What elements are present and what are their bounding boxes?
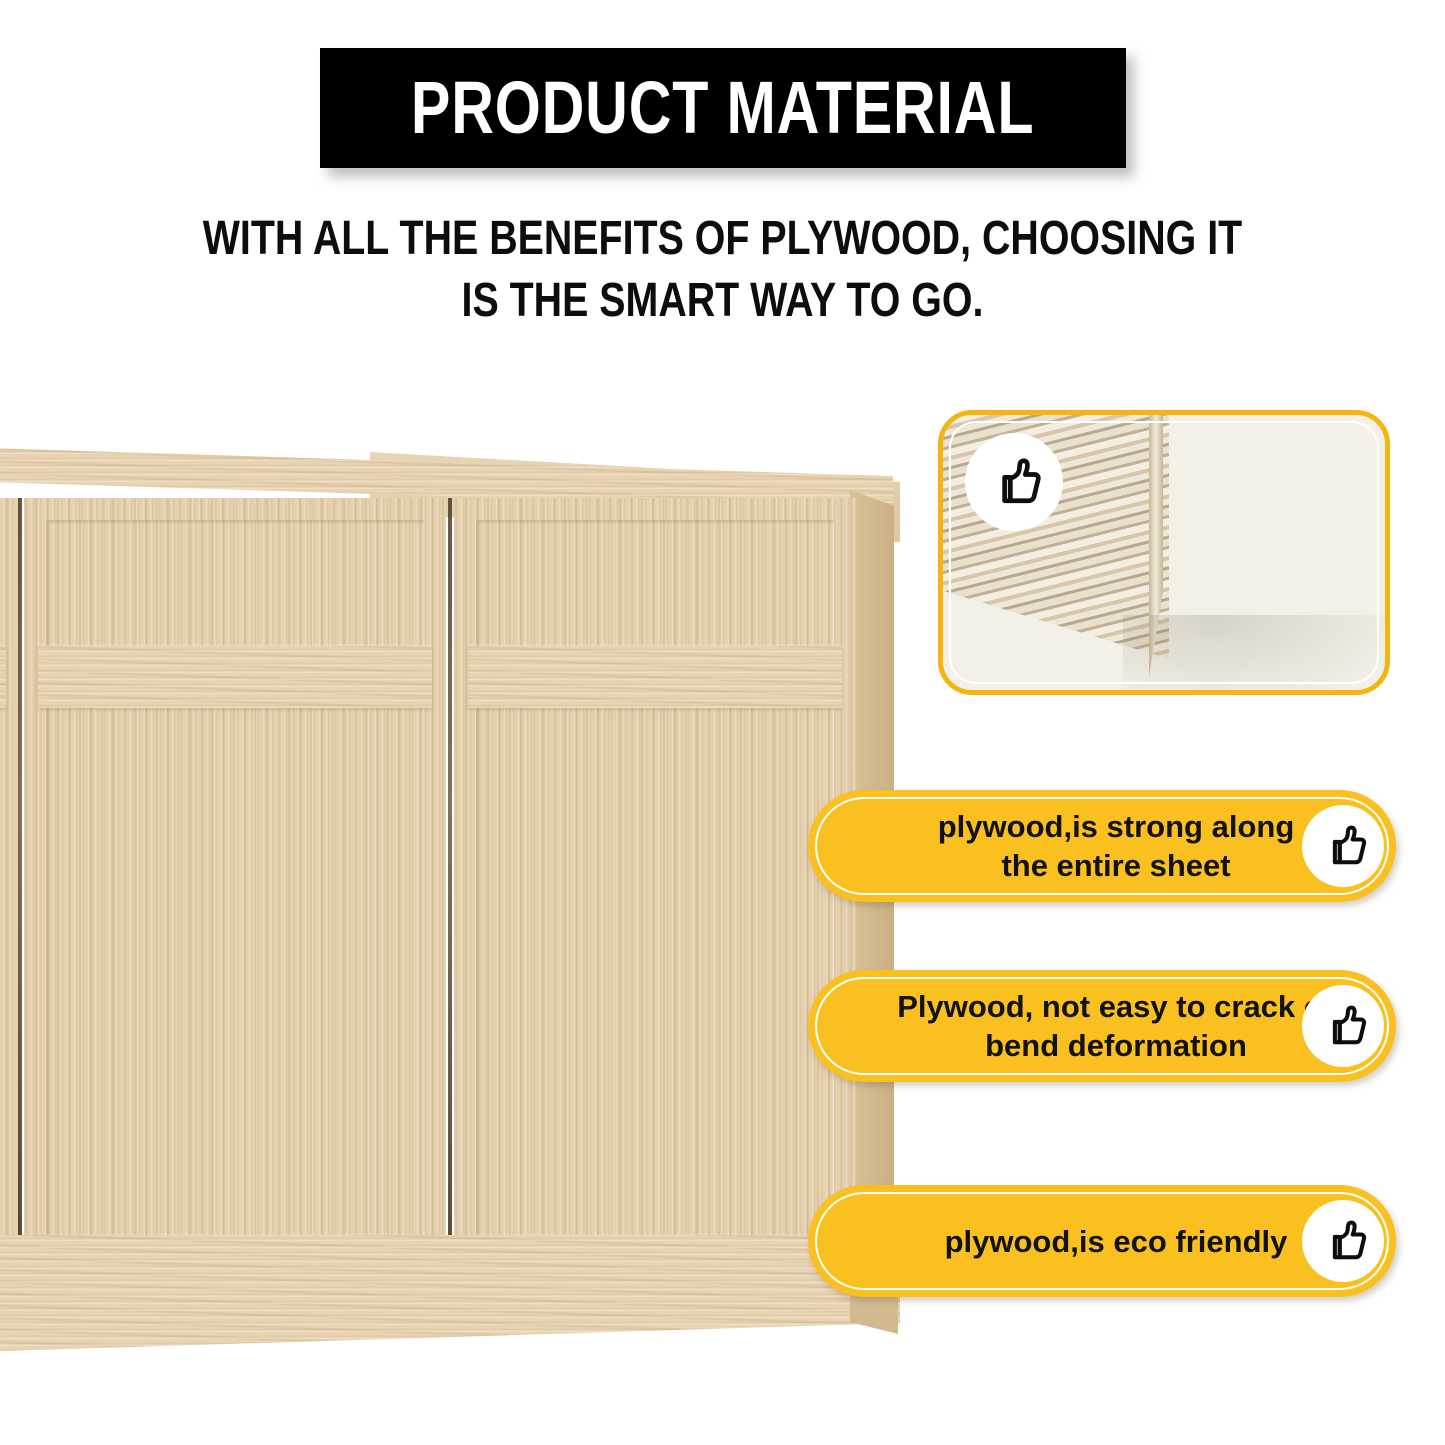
feature-text-line-1: Plywood, not easy to crack or (897, 989, 1335, 1024)
feature-pill-eco[interactable]: plywood,is eco friendly (808, 1185, 1396, 1297)
page-title: PRODUCT MATERIAL (411, 71, 1034, 145)
door-rail (0, 646, 6, 708)
feature-text-line-1: plywood,is strong along (938, 809, 1295, 844)
cabinet-base-toe-kick (0, 1235, 900, 1353)
thumbs-up-icon (1302, 1200, 1384, 1282)
door-gap-right (448, 498, 452, 1258)
plywood-photo-card (938, 410, 1390, 695)
subtitle-line-1: WITH ALL THE BENEFITS OF PLYWOOD, CHOOSI… (130, 208, 1315, 270)
plywood-drop-shadow (1123, 615, 1390, 695)
door-rail (468, 646, 842, 708)
cabinet-front (0, 498, 900, 1303)
cabinet-door-middle (24, 498, 446, 1258)
thumbs-up-icon (1302, 805, 1384, 887)
cabinet-door-right (454, 498, 856, 1258)
feature-text-line-2: the entire sheet (1001, 848, 1230, 883)
page-subtitle: WITH ALL THE BENEFITS OF PLYWOOD, CHOOSI… (0, 208, 1445, 332)
subtitle-line-2: IS THE SMART WAY TO GO. (130, 270, 1315, 332)
feature-text-line-2: bend deformation (985, 1028, 1247, 1063)
door-panel (46, 520, 424, 1236)
feature-text-line-1: plywood,is eco friendly (945, 1224, 1288, 1259)
feature-pill-strength[interactable]: plywood,is strong along the entire sheet (808, 790, 1396, 902)
page-title-banner: PRODUCT MATERIAL (320, 48, 1126, 168)
feature-pill-durability[interactable]: Plywood, not easy to crack or bend defor… (808, 970, 1396, 1082)
thumbs-up-icon (1302, 985, 1384, 1067)
cabinet-door-left-partial (0, 498, 20, 1258)
door-rail (38, 646, 432, 708)
door-gap-left (18, 498, 22, 1258)
thumbs-up-icon (965, 433, 1063, 531)
door-panel (476, 520, 834, 1236)
